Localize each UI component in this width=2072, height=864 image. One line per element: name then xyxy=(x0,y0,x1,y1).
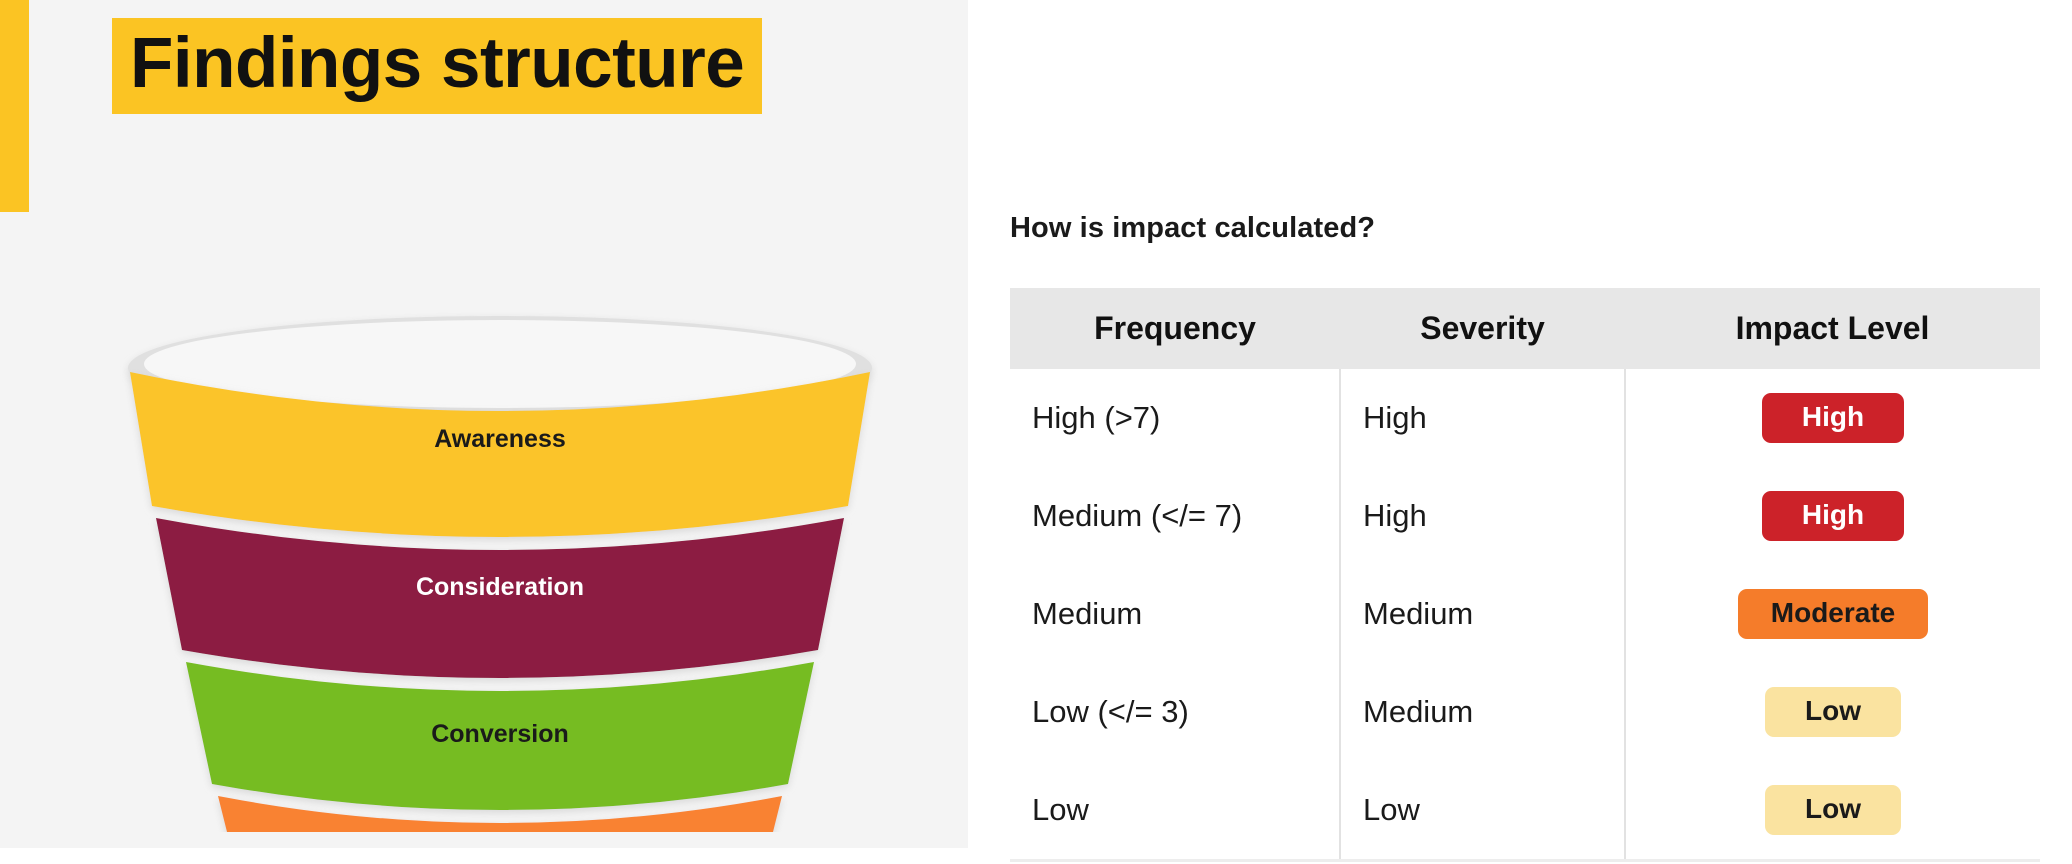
table-row: Low (</= 3) Medium Low xyxy=(1010,663,2040,761)
right-panel: How is impact calculated? Frequency Seve… xyxy=(968,0,2072,864)
cell-impact: Moderate xyxy=(1625,565,2040,663)
table-header-row: Frequency Severity Impact Level xyxy=(1010,288,2040,369)
cell-severity: Medium xyxy=(1340,663,1625,761)
page-title: Findings structure xyxy=(112,18,762,114)
table-row: Medium (</= 7) High High xyxy=(1010,467,2040,565)
funnel-svg: Awareness Consideration Conversion Reten… xyxy=(58,292,942,832)
table-row: Low Low Low xyxy=(1010,761,2040,861)
funnel-stage-consideration[interactable]: Consideration xyxy=(156,518,844,678)
status-badge: Low xyxy=(1765,785,1901,834)
funnel-stage-label: Awareness xyxy=(434,425,566,453)
cell-impact: High xyxy=(1625,369,2040,467)
cell-impact: Low xyxy=(1625,761,2040,861)
cell-severity: High xyxy=(1340,467,1625,565)
title-container: Findings structure xyxy=(112,18,762,114)
cell-severity: Medium xyxy=(1340,565,1625,663)
cell-frequency: High (>7) xyxy=(1010,369,1340,467)
status-badge: Low xyxy=(1765,687,1901,736)
impact-table-body: High (>7) High High Medium (</= 7) High … xyxy=(1010,369,2040,861)
table-row: Medium Medium Moderate xyxy=(1010,565,2040,663)
column-header-impact-level[interactable]: Impact Level xyxy=(1625,288,2040,369)
cell-severity: High xyxy=(1340,369,1625,467)
cell-frequency: Low (</= 3) xyxy=(1010,663,1340,761)
impact-table-head: Frequency Severity Impact Level xyxy=(1010,288,2040,369)
cell-impact: Low xyxy=(1625,663,2040,761)
funnel-stage-conversion[interactable]: Conversion xyxy=(186,662,814,810)
funnel-stage-label: Conversion xyxy=(431,720,569,748)
impact-table: Frequency Severity Impact Level High (>7… xyxy=(1010,288,2040,862)
cell-frequency: Low xyxy=(1010,761,1340,861)
accent-bar xyxy=(0,0,29,212)
cell-frequency: Medium (</= 7) xyxy=(1010,467,1340,565)
column-header-frequency[interactable]: Frequency xyxy=(1010,288,1340,369)
column-header-severity[interactable]: Severity xyxy=(1340,288,1625,369)
status-badge: High xyxy=(1762,491,1904,540)
cell-severity: Low xyxy=(1340,761,1625,861)
left-panel: Findings structure Awareness xyxy=(0,0,968,848)
status-badge: Moderate xyxy=(1738,589,1928,638)
funnel-chart: Awareness Consideration Conversion Reten… xyxy=(58,292,942,832)
table-row: High (>7) High High xyxy=(1010,369,2040,467)
cell-frequency: Medium xyxy=(1010,565,1340,663)
slide-canvas: Findings structure Awareness xyxy=(0,0,2072,864)
cell-impact: High xyxy=(1625,467,2040,565)
status-badge: High xyxy=(1762,393,1904,442)
funnel-stage-label: Consideration xyxy=(416,573,584,601)
impact-question-heading: How is impact calculated? xyxy=(1010,212,1375,245)
